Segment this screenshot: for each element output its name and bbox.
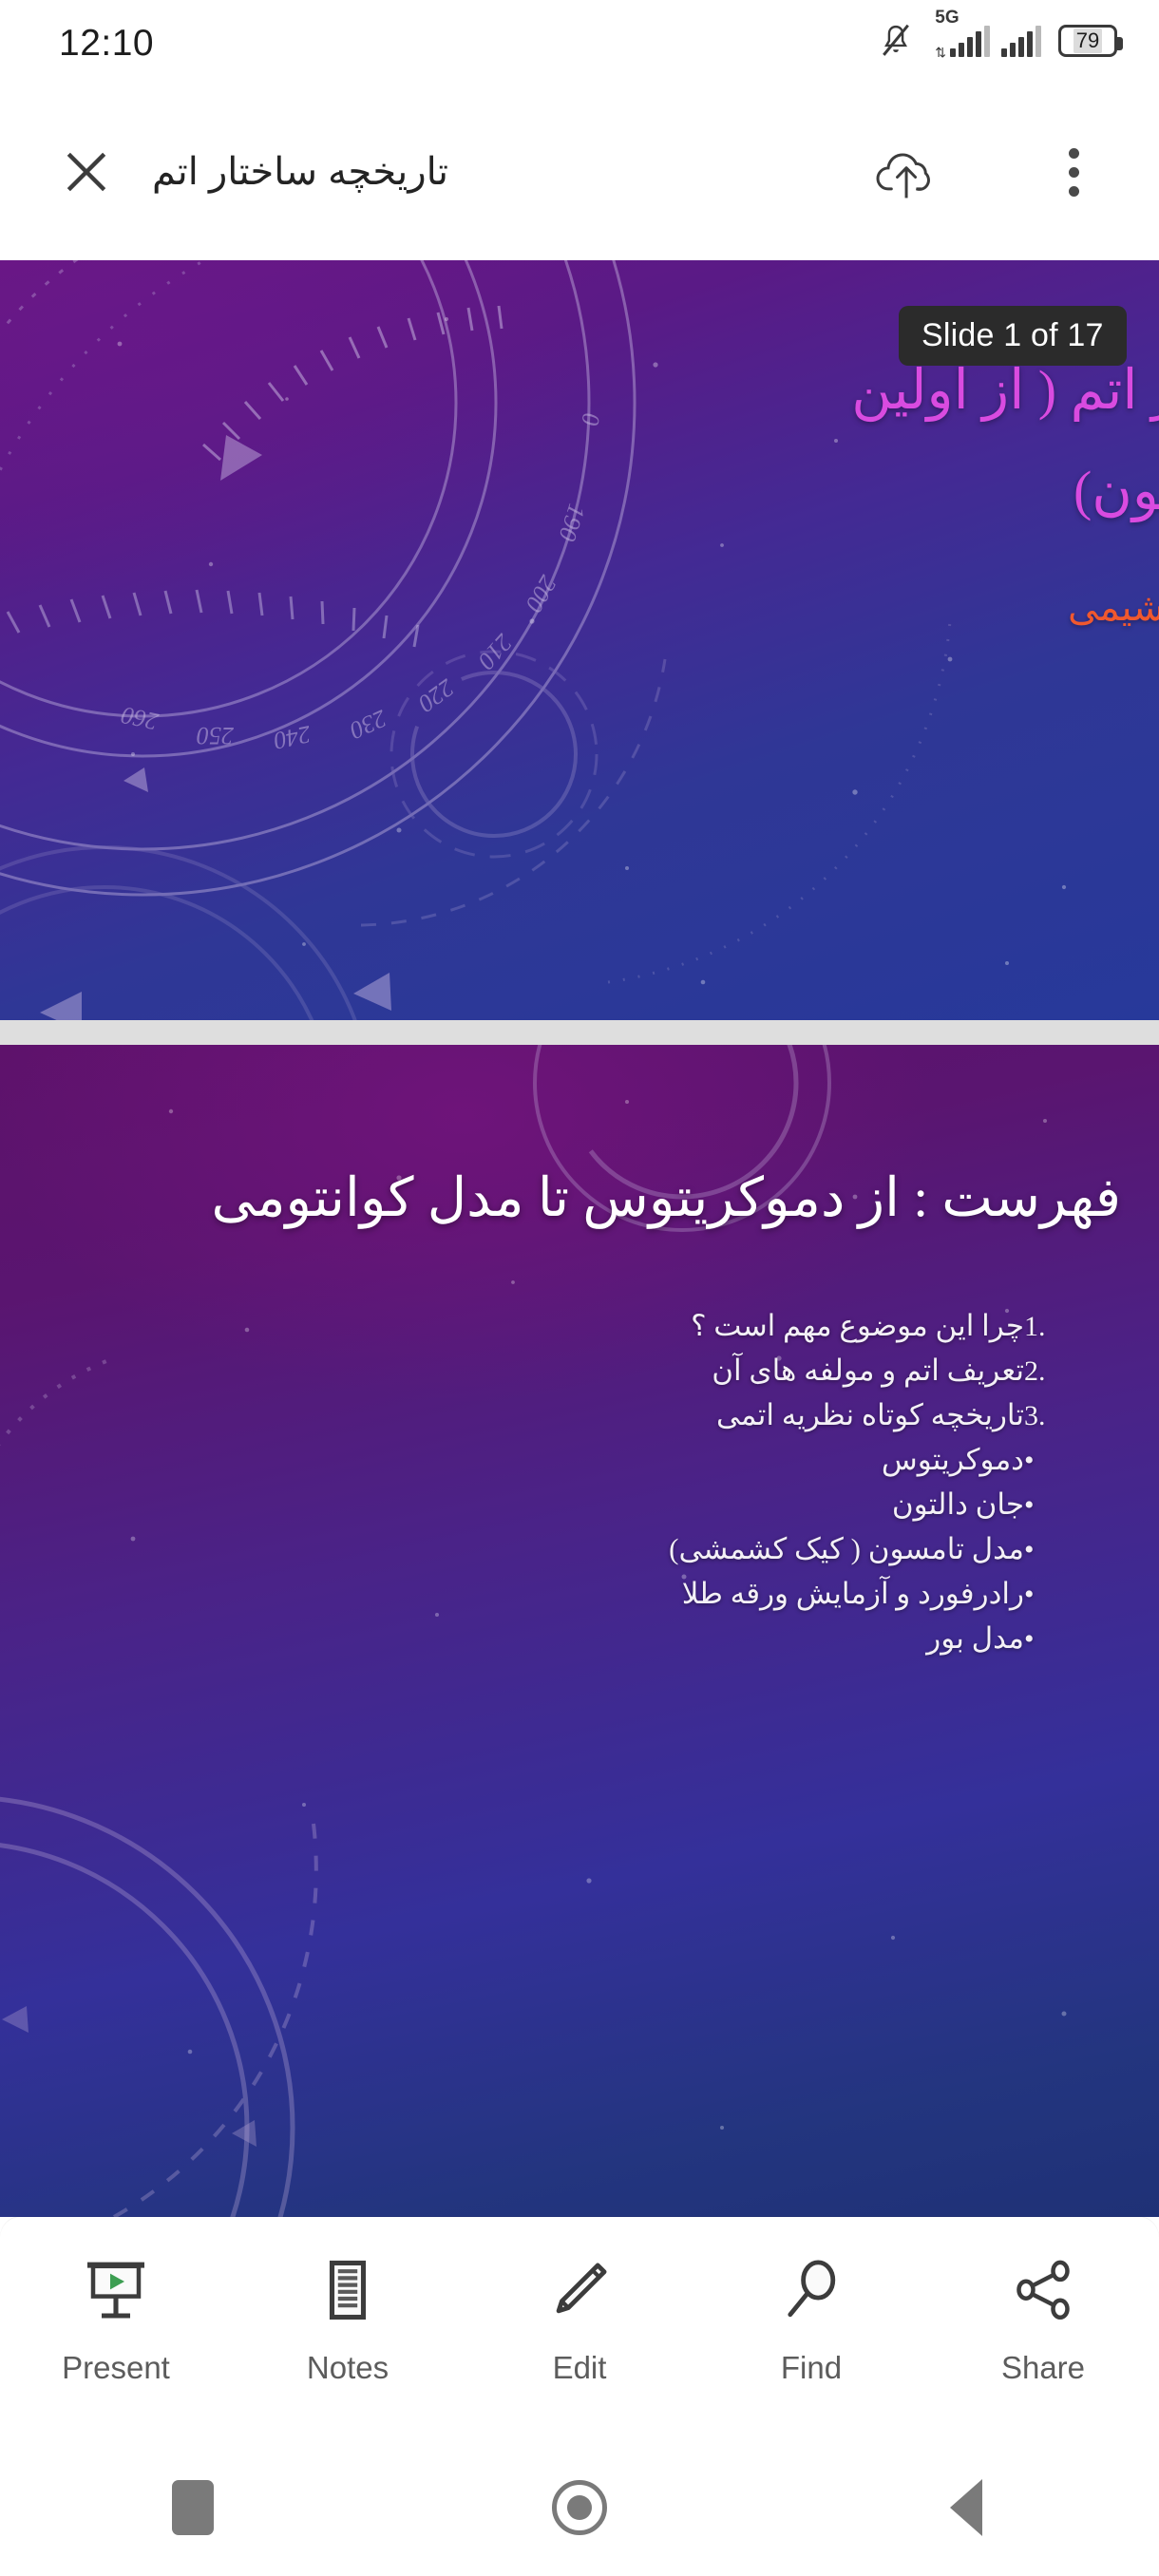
list-marker: 3. <box>1024 1402 1079 1430</box>
slide-canvas[interactable]: 0 190 200 210 220 230 240 250 260 <box>0 260 1159 2217</box>
list-text: تاریخچه کوتاه نظریه اتمی <box>547 1400 1024 1430</box>
pencil-icon <box>542 2251 617 2329</box>
close-button[interactable] <box>44 129 129 215</box>
list-text: مدل بور <box>547 1623 1024 1653</box>
list-item: 1. چرا این موضوع مهم است ؟ <box>547 1311 1079 1341</box>
list-marker: 1. <box>1024 1313 1079 1341</box>
home-circle-icon <box>552 2480 607 2535</box>
overflow-menu-icon <box>1069 148 1079 159</box>
svg-text:240: 240 <box>272 720 313 754</box>
notes-button[interactable]: Notes <box>253 2251 443 2386</box>
recents-square-icon <box>172 2480 214 2535</box>
battery-icon: 79 <box>1058 25 1117 57</box>
notes-icon <box>311 2251 385 2329</box>
status-bar: 12:10 5G ⇅ 79 <box>0 0 1159 84</box>
search-icon <box>774 2251 848 2329</box>
list-text: چرا این موضوع مهم است ؟ <box>547 1311 1024 1340</box>
slide-1[interactable]: 0 190 200 210 220 230 240 250 260 <box>0 260 1159 1020</box>
list-item: • رادرفورد و آزمایش ورقه طلا <box>547 1579 1079 1609</box>
list-marker: • <box>1024 1491 1079 1520</box>
bottom-toolbar: Present Notes <box>0 2217 1159 2439</box>
list-marker: • <box>1024 1581 1079 1609</box>
network-type-label: 5G <box>935 8 959 28</box>
list-item: • جان دالتون <box>547 1489 1079 1520</box>
svg-text:210: 210 <box>472 629 518 674</box>
list-item: • مدل تامسون ( کیک کشمشی) <box>547 1534 1079 1564</box>
cloud-upload-icon <box>873 142 941 201</box>
list-marker: • <box>1024 1447 1079 1475</box>
list-text: جان دالتون <box>547 1489 1024 1519</box>
svg-text:230: 230 <box>346 705 390 745</box>
edit-button[interactable]: Edit <box>484 2251 674 2386</box>
list-marker: • <box>1024 1536 1079 1564</box>
recents-button[interactable] <box>117 2460 269 2555</box>
status-time: 12:10 <box>59 23 154 65</box>
present-button[interactable]: Present <box>21 2251 211 2386</box>
find-button[interactable]: Find <box>716 2251 906 2386</box>
status-icons: 5G ⇅ 79 <box>880 17 1117 65</box>
present-label: Present <box>62 2350 170 2386</box>
overflow-menu-button[interactable] <box>1037 129 1110 215</box>
svg-text:260: 260 <box>119 701 161 735</box>
slide-1-subtitle: شیمی <box>310 585 1159 630</box>
share-button[interactable]: Share <box>948 2251 1138 2386</box>
app-toolbar: تاریخچه ساختار اتم <box>0 84 1159 260</box>
battery-level-label: 79 <box>1073 28 1102 53</box>
svg-text:220: 220 <box>413 673 460 717</box>
slide-2-title: فهرست : از دموکریتوس تا مدل کوانتومی <box>38 1166 1121 1229</box>
list-text: تعریف اتم و مولفه های آن <box>547 1355 1024 1385</box>
find-label: Find <box>781 2350 842 2386</box>
notes-label: Notes <box>307 2350 389 2386</box>
phone-screen: 12:10 5G ⇅ 79 <box>0 0 1159 2576</box>
android-nav-bar <box>0 2439 1159 2576</box>
list-item: • مدل بور <box>547 1623 1079 1654</box>
slide-2-outline-list: 1. چرا این موضوع مهم است ؟ 2. تعریف اتم … <box>547 1311 1079 1668</box>
page-title: تاریخچه ساختار اتم <box>152 129 448 215</box>
close-icon <box>60 145 113 199</box>
home-button[interactable] <box>503 2460 655 2555</box>
svg-text:250: 250 <box>197 722 234 749</box>
slide-2[interactable]: فهرست : از دموکریتوس تا مدل کوانتومی 1. … <box>0 1045 1159 2217</box>
list-item: 2. تعریف اتم و مولفه های آن <box>547 1355 1079 1386</box>
cloud-upload-button[interactable] <box>855 129 959 215</box>
list-text: رادرفورد و آزمایش ورقه طلا <box>547 1579 1024 1608</box>
edit-label: Edit <box>553 2350 607 2386</box>
present-icon <box>79 2251 153 2329</box>
list-marker: • <box>1024 1625 1079 1654</box>
share-icon <box>1006 2251 1080 2329</box>
list-text: مدل تامسون ( کیک کشمشی) <box>547 1534 1024 1563</box>
slide-1-title-line-2: نون) <box>226 458 1159 522</box>
list-item: 3. تاریخچه کوتاه نظریه اتمی <box>547 1400 1079 1430</box>
slide-counter-badge: Slide 1 of 17 <box>899 306 1127 366</box>
list-item: • دموکریتوس <box>547 1445 1079 1475</box>
back-triangle-icon <box>950 2479 982 2536</box>
signal-5g-icon: 5G ⇅ <box>935 25 990 57</box>
slide-separator <box>0 1020 1159 1045</box>
data-arrows-icon: ⇅ <box>935 48 946 57</box>
share-label: Share <box>1001 2350 1085 2386</box>
slide-1-title-line-1: ر اتم ( از اولین <box>228 357 1159 422</box>
back-button[interactable] <box>890 2460 1042 2555</box>
list-text: دموکریتوس <box>547 1445 1024 1474</box>
list-marker: 2. <box>1024 1357 1079 1386</box>
signal-sim2-icon <box>1001 25 1041 57</box>
bell-muted-icon <box>880 22 912 60</box>
